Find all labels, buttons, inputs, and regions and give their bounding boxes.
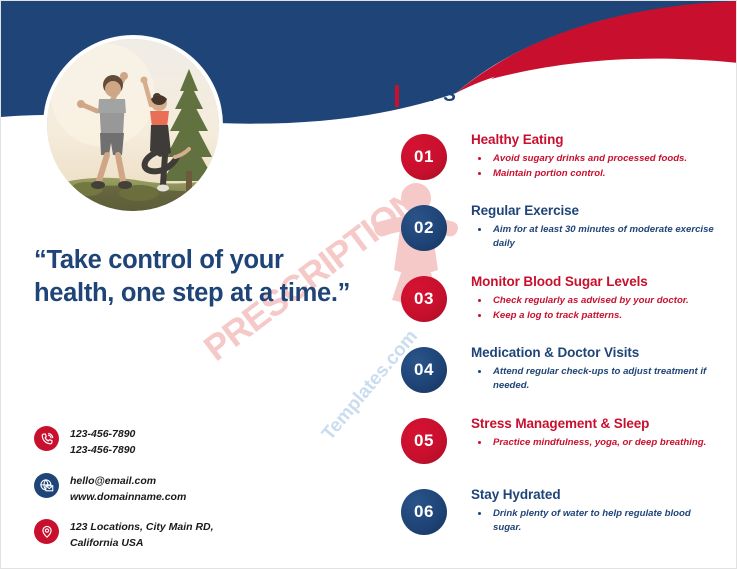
contact-phone-line-1: 123-456-7890 <box>70 426 135 442</box>
contact-website: www.domainname.com <box>70 489 186 505</box>
tip-item-04: 04 Medication & Doctor Visits Attend reg… <box>401 345 716 402</box>
phone-icon <box>34 426 59 451</box>
tip-number-badge: 06 <box>401 489 447 535</box>
tip-points: Aim for at least 30 minutes of moderate … <box>471 223 716 251</box>
tips-list: 01 Healthy Eating Avoid sugary drinks an… <box>401 132 716 558</box>
quote-text: “Take control of your health, one step a… <box>34 244 364 309</box>
red-wave-shape <box>401 1 737 79</box>
contact-phone-lines: 123-456-7890 123-456-7890 <box>70 425 135 459</box>
red-accent-bar <box>395 85 399 107</box>
tip-title: Healthy Eating <box>471 132 716 148</box>
contact-item-phone[interactable]: 123-456-7890 123-456-7890 <box>34 425 344 459</box>
tip-point: Check regularly as advised by your docto… <box>471 294 716 308</box>
contact-block: 123-456-7890 123-456-7890 hello@email.co… <box>34 425 344 565</box>
tip-item-06: 06 Stay Hydrated Drink plenty of water t… <box>401 487 716 544</box>
globe-email-icon <box>34 473 59 498</box>
tip-points: Avoid sugary drinks and processed foods.… <box>471 152 716 181</box>
tip-points: Check regularly as advised by your docto… <box>471 294 716 323</box>
contact-item-web[interactable]: hello@email.com www.domainname.com <box>34 472 344 506</box>
tip-number-badge: 01 <box>401 134 447 180</box>
contact-address-lines: 123 Locations, City Main RD, California … <box>70 518 214 552</box>
red-wave-shape-2 <box>456 1 737 93</box>
tip-point: Maintain portion control. <box>471 167 716 181</box>
tip-point: Drink plenty of water to help regulate b… <box>471 507 716 535</box>
tip-points: Attend regular check-ups to adjust treat… <box>471 365 716 393</box>
tip-number-badge: 05 <box>401 418 447 464</box>
tip-point: Practice mindfulness, yoga, or deep brea… <box>471 436 716 450</box>
tip-points: Drink plenty of water to help regulate b… <box>471 507 716 535</box>
tip-title: Medication & Doctor Visits <box>471 345 716 361</box>
tip-point: Keep a log to track patterns. <box>471 309 716 323</box>
contact-web-lines: hello@email.com www.domainname.com <box>70 472 186 506</box>
tip-point: Aim for at least 30 minutes of moderate … <box>471 223 716 251</box>
contact-address-line-1: 123 Locations, City Main RD, <box>70 519 214 535</box>
tip-item-02: 02 Regular Exercise Aim for at least 30 … <box>401 203 716 260</box>
hero-photo <box>47 39 219 211</box>
tips-title: TIPS <box>410 85 457 107</box>
tips-heading: TIPS <box>395 85 457 107</box>
contact-email: hello@email.com <box>70 473 186 489</box>
infographic-page: PRESCRIPTION Templates.com “Take control… <box>0 0 737 569</box>
tip-title: Monitor Blood Sugar Levels <box>471 274 716 290</box>
location-pin-icon <box>34 519 59 544</box>
tip-number-badge: 02 <box>401 205 447 251</box>
tip-title: Regular Exercise <box>471 203 716 219</box>
tip-points: Practice mindfulness, yoga, or deep brea… <box>471 436 716 450</box>
tip-item-01: 01 Healthy Eating Avoid sugary drinks an… <box>401 132 716 189</box>
tip-title: Stay Hydrated <box>471 487 716 503</box>
tip-point: Attend regular check-ups to adjust treat… <box>471 365 716 393</box>
contact-item-address[interactable]: 123 Locations, City Main RD, California … <box>34 518 344 552</box>
contact-address-line-2: California USA <box>70 535 214 551</box>
tip-point: Avoid sugary drinks and processed foods. <box>471 152 716 166</box>
tip-number-badge: 03 <box>401 276 447 322</box>
tip-title: Stress Management & Sleep <box>471 416 716 432</box>
tip-item-03: 03 Monitor Blood Sugar Levels Check regu… <box>401 274 716 331</box>
contact-phone-line-2: 123-456-7890 <box>70 442 135 458</box>
tip-number-badge: 04 <box>401 347 447 393</box>
photo-circle-icon <box>47 39 219 211</box>
tip-item-05: 05 Stress Management & Sleep Practice mi… <box>401 416 716 473</box>
